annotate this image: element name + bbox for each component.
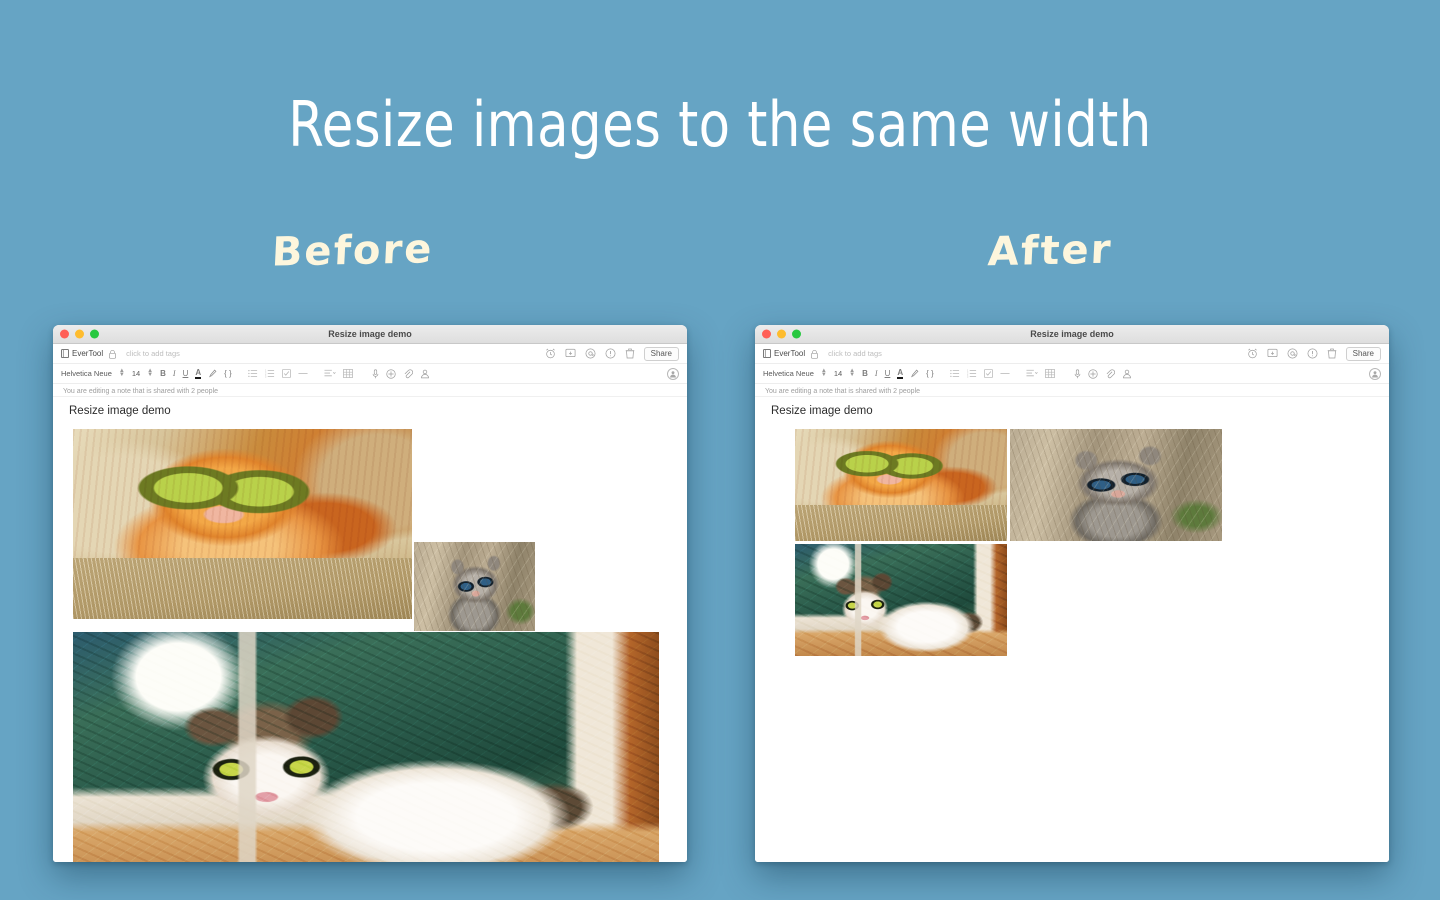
toolbar-divider-2 — [1017, 369, 1019, 378]
horizontal-rule-icon[interactable] — [298, 369, 308, 378]
shared-note-notice: You are editing a note that is shared wi… — [755, 384, 1389, 397]
reminder-icon[interactable] — [545, 348, 556, 359]
presentation-icon[interactable] — [1267, 348, 1278, 359]
grey-kitten-photo[interactable] — [1010, 429, 1222, 541]
align-icon[interactable] — [324, 369, 336, 378]
add-person-icon[interactable] — [420, 369, 430, 379]
tag-lock-icon[interactable] — [810, 349, 819, 359]
grey-kitten-photo[interactable] — [414, 542, 535, 631]
note-body-before[interactable]: Resize image demo — [53, 397, 687, 862]
font-family-select[interactable]: Helvetica Neue — [763, 369, 814, 378]
bulleted-list-icon[interactable] — [248, 369, 258, 378]
trash-icon[interactable] — [625, 348, 635, 359]
highlighter-icon[interactable] — [208, 369, 217, 378]
add-tags-placeholder[interactable]: click to add tags — [126, 349, 180, 358]
numbered-list-icon[interactable]: 123 — [967, 369, 977, 378]
font-size-stepper-icon[interactable]: ▲▼ — [147, 370, 153, 377]
horizontal-rule-icon[interactable] — [1000, 369, 1010, 378]
attachment-icon[interactable] — [1105, 369, 1115, 379]
microphone-icon[interactable] — [1074, 369, 1081, 379]
orange-tabby-cat-photo[interactable] — [73, 429, 412, 619]
promo-stage: Resize images to the same width Before A… — [0, 0, 1440, 900]
window-titlebar[interactable]: Resize image demo — [755, 325, 1389, 344]
format-toolbar: Helvetica Neue ▲▼ 14 ▲▼ B I U A { } 123 — [53, 364, 687, 384]
white-brown-cat-window-photo[interactable] — [795, 544, 1007, 656]
window-titlebar[interactable]: Resize image demo — [53, 325, 687, 344]
checklist-icon[interactable] — [984, 369, 993, 378]
add-tags-placeholder[interactable]: click to add tags — [828, 349, 882, 358]
window-title: Resize image demo — [53, 329, 687, 339]
toolbar-divider-2 — [315, 369, 317, 378]
shared-note-notice: You are editing a note that is shared wi… — [53, 384, 687, 397]
font-family-stepper-icon[interactable]: ▲▼ — [821, 370, 827, 377]
code-button[interactable]: { } — [224, 369, 232, 378]
at-icon[interactable] — [1287, 348, 1298, 359]
table-icon[interactable] — [343, 369, 353, 378]
reminder-icon[interactable] — [1247, 348, 1258, 359]
format-toolbar: Helvetica Neue ▲▼ 14 ▲▼ B I U A { } 123 — [755, 364, 1389, 384]
note-title[interactable]: Resize image demo — [771, 405, 1373, 417]
notebook-icon — [61, 349, 69, 358]
presentation-icon[interactable] — [565, 348, 576, 359]
info-icon[interactable] — [605, 348, 616, 359]
numbered-list-icon[interactable]: 123 — [265, 369, 275, 378]
font-size-select[interactable]: 14 — [834, 369, 842, 378]
camera-icon[interactable] — [1088, 369, 1098, 379]
notebook-icon — [763, 349, 771, 358]
at-icon[interactable] — [585, 348, 596, 359]
info-icon[interactable] — [1307, 348, 1318, 359]
top-toolbar-icons — [545, 348, 635, 359]
font-size-stepper-icon[interactable]: ▲▼ — [849, 370, 855, 377]
align-icon[interactable] — [1026, 369, 1038, 378]
user-avatar[interactable] — [1369, 368, 1381, 380]
after-image-group — [771, 429, 1373, 759]
toolbar-divider-3 — [1062, 369, 1066, 378]
microphone-icon[interactable] — [372, 369, 379, 379]
share-button[interactable]: Share — [644, 347, 679, 361]
user-avatar[interactable] — [667, 368, 679, 380]
bold-button[interactable]: B — [160, 369, 166, 378]
caption-after: After — [987, 227, 1114, 276]
before-image-group — [69, 429, 671, 829]
note-body-after[interactable]: Resize image demo — [755, 397, 1389, 862]
code-button[interactable]: { } — [926, 369, 934, 378]
text-color-button[interactable]: A — [195, 368, 201, 379]
attachment-icon[interactable] — [403, 369, 413, 379]
app-badge[interactable]: EverTool — [763, 349, 805, 358]
camera-icon[interactable] — [386, 369, 396, 379]
top-toolbar: EverTool click to add tags — [755, 344, 1389, 364]
underline-button[interactable]: U — [183, 369, 189, 378]
orange-tabby-cat-photo[interactable] — [795, 429, 1007, 541]
italic-button[interactable]: I — [875, 369, 878, 378]
before-app-window: Resize image demo EverTool click to add … — [53, 325, 687, 862]
share-button[interactable]: Share — [1346, 347, 1381, 361]
font-size-select[interactable]: 14 — [132, 369, 140, 378]
underline-button[interactable]: U — [885, 369, 891, 378]
top-toolbar-icons — [1247, 348, 1337, 359]
app-name-label: EverTool — [72, 349, 103, 358]
italic-button[interactable]: I — [173, 369, 176, 378]
bold-button[interactable]: B — [862, 369, 868, 378]
svg-text:3: 3 — [967, 375, 969, 378]
toolbar-divider — [941, 369, 943, 378]
tag-lock-icon[interactable] — [108, 349, 117, 359]
checklist-icon[interactable] — [282, 369, 291, 378]
toolbar-divider-3 — [360, 369, 364, 378]
toolbar-divider — [239, 369, 241, 378]
font-family-select[interactable]: Helvetica Neue — [61, 369, 112, 378]
caption-before: Before — [271, 226, 435, 275]
note-title[interactable]: Resize image demo — [69, 405, 671, 417]
window-title: Resize image demo — [755, 329, 1389, 339]
top-toolbar: EverTool click to add tags — [53, 344, 687, 364]
white-brown-cat-window-photo[interactable] — [73, 632, 659, 862]
add-person-icon[interactable] — [1122, 369, 1132, 379]
text-color-button[interactable]: A — [897, 368, 903, 379]
highlighter-icon[interactable] — [910, 369, 919, 378]
app-badge[interactable]: EverTool — [61, 349, 103, 358]
table-icon[interactable] — [1045, 369, 1055, 378]
trash-icon[interactable] — [1327, 348, 1337, 359]
app-name-label: EverTool — [774, 349, 805, 358]
svg-text:3: 3 — [265, 375, 267, 378]
bulleted-list-icon[interactable] — [950, 369, 960, 378]
page-headline: Resize images to the same width — [58, 88, 1383, 161]
font-family-stepper-icon[interactable]: ▲▼ — [119, 370, 125, 377]
after-app-window: Resize image demo EverTool click to add … — [755, 325, 1389, 862]
